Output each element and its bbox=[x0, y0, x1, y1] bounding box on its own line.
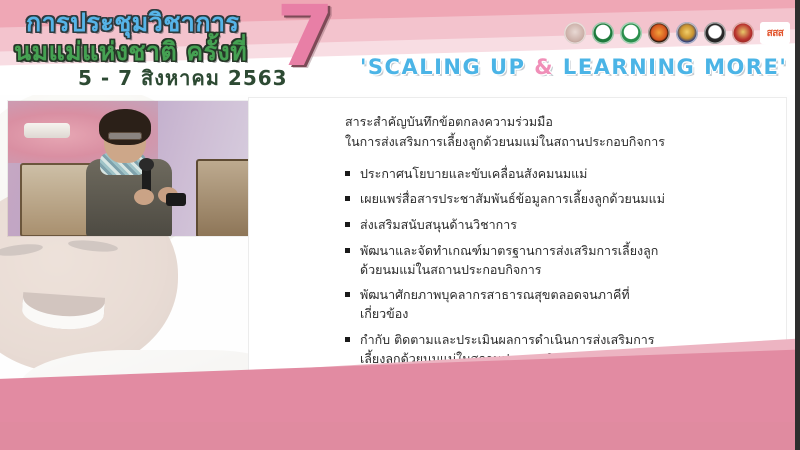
bullet-square-icon bbox=[345, 222, 350, 227]
content-intro: สาระสำคัญบันทึกข้อตกลงความร่วมมือ ในการส… bbox=[345, 112, 768, 153]
logo-royal-emblem-icon bbox=[564, 22, 586, 44]
bullet-square-icon bbox=[345, 248, 350, 253]
bullet-square-icon bbox=[345, 337, 350, 342]
list-item-line: ด้วยนมแม่ในสถานประกอบกิจการ bbox=[360, 261, 768, 280]
tagline-suffix: LEARNING MORE' bbox=[554, 55, 787, 79]
list-item-line: เกี่ยวข้อง bbox=[360, 305, 768, 324]
bullet-square-icon bbox=[345, 171, 350, 176]
stage-chair-right bbox=[196, 159, 248, 236]
presentation-clicker bbox=[166, 193, 186, 206]
presentation-slide: การประชุมวิชาการ นมแม่แห่งชาติ ครั้งที่ … bbox=[0, 0, 800, 450]
speaker-hand-left bbox=[134, 189, 154, 205]
logo-ministry-health-green-icon bbox=[592, 22, 614, 44]
poster-smile-detail bbox=[24, 123, 70, 138]
speaker-video-frame bbox=[8, 101, 248, 236]
list-item: เผยแพร่สื่อสารประชาสัมพันธ์ข้อมูลการเลี้… bbox=[345, 190, 768, 209]
bullet-square-icon bbox=[345, 196, 350, 201]
bullet-square-icon bbox=[345, 292, 350, 297]
conference-date: 5 - 7 สิงหาคม 2563 bbox=[78, 62, 288, 94]
microphone-head bbox=[139, 158, 154, 171]
logo-thaihealth-sss-icon: สสส bbox=[760, 22, 790, 44]
list-item-line: เผยแพร่สื่อสารประชาสัมพันธ์ข้อมูลการเลี้… bbox=[360, 190, 768, 209]
content-bullet-list: ประกาศนโยบายและขับเคลื่อนสังคมนมแม่ เผยแ… bbox=[345, 165, 768, 369]
logo-orange-seal-icon bbox=[648, 22, 670, 44]
list-item-text: พัฒนาศักยภาพบุคลากรสาธารณสุขตลอดจนภาคีที… bbox=[360, 286, 768, 324]
list-item-text: ส่งเสริมสนับสนุนด้านวิชาการ bbox=[360, 216, 768, 235]
logo-royal-crest-blue-icon bbox=[676, 22, 698, 44]
logo-thai-breastfeeding-green-icon bbox=[620, 22, 642, 44]
sponsor-logos-row: สสส bbox=[564, 22, 790, 44]
list-item: ประกาศนโยบายและขับเคลื่อนสังคมนมแม่ bbox=[345, 165, 768, 184]
list-item-text: ประกาศนโยบายและขับเคลื่อนสังคมนมแม่ bbox=[360, 165, 768, 184]
tagline-ampersand: & bbox=[534, 55, 554, 79]
speaker-glasses bbox=[108, 132, 142, 140]
logo-black-seal-icon bbox=[704, 22, 726, 44]
conference-tagline: 'SCALING UP & LEARNING MORE' bbox=[360, 55, 787, 79]
list-item-text: เผยแพร่สื่อสารประชาสัมพันธ์ข้อมูลการเลี้… bbox=[360, 190, 768, 209]
logo-red-seal-icon bbox=[732, 22, 754, 44]
right-edge-strip bbox=[795, 0, 800, 450]
list-item-line: ส่งเสริมสนับสนุนด้านวิชาการ bbox=[360, 216, 768, 235]
slide-header-banner: การประชุมวิชาการ นมแม่แห่งชาติ ครั้งที่ … bbox=[0, 0, 800, 95]
list-item: พัฒนาศักยภาพบุคลากรสาธารณสุขตลอดจนภาคีที… bbox=[345, 286, 768, 324]
list-item: ส่งเสริมสนับสนุนด้านวิชาการ bbox=[345, 216, 768, 235]
list-item-line: พัฒนาศักยภาพบุคลากรสาธารณสุขตลอดจนภาคีที… bbox=[360, 286, 768, 305]
edition-number: 7 bbox=[276, 0, 334, 78]
list-item: พัฒนาและจัดทำเกณฑ์มาตรฐานการส่งเสริมการเ… bbox=[345, 242, 768, 280]
list-item-line: ประกาศนโยบายและขับเคลื่อนสังคมนมแม่ bbox=[360, 165, 768, 184]
tagline-prefix: 'SCALING UP bbox=[360, 55, 534, 79]
footer-band-solid bbox=[0, 422, 800, 450]
list-item-text: พัฒนาและจัดทำเกณฑ์มาตรฐานการส่งเสริมการเ… bbox=[360, 242, 768, 280]
list-item-line: พัฒนาและจัดทำเกณฑ์มาตรฐานการส่งเสริมการเ… bbox=[360, 242, 768, 261]
content-intro-line-2: ในการส่งเสริมการเลี้ยงลูกด้วยนมแม่ในสถาน… bbox=[345, 132, 768, 152]
content-intro-line-1: สาระสำคัญบันทึกข้อตกลงความร่วมมือ bbox=[345, 112, 768, 132]
slide-body: สาระสำคัญบันทึกข้อตกลงความร่วมมือ ในการส… bbox=[0, 95, 800, 450]
